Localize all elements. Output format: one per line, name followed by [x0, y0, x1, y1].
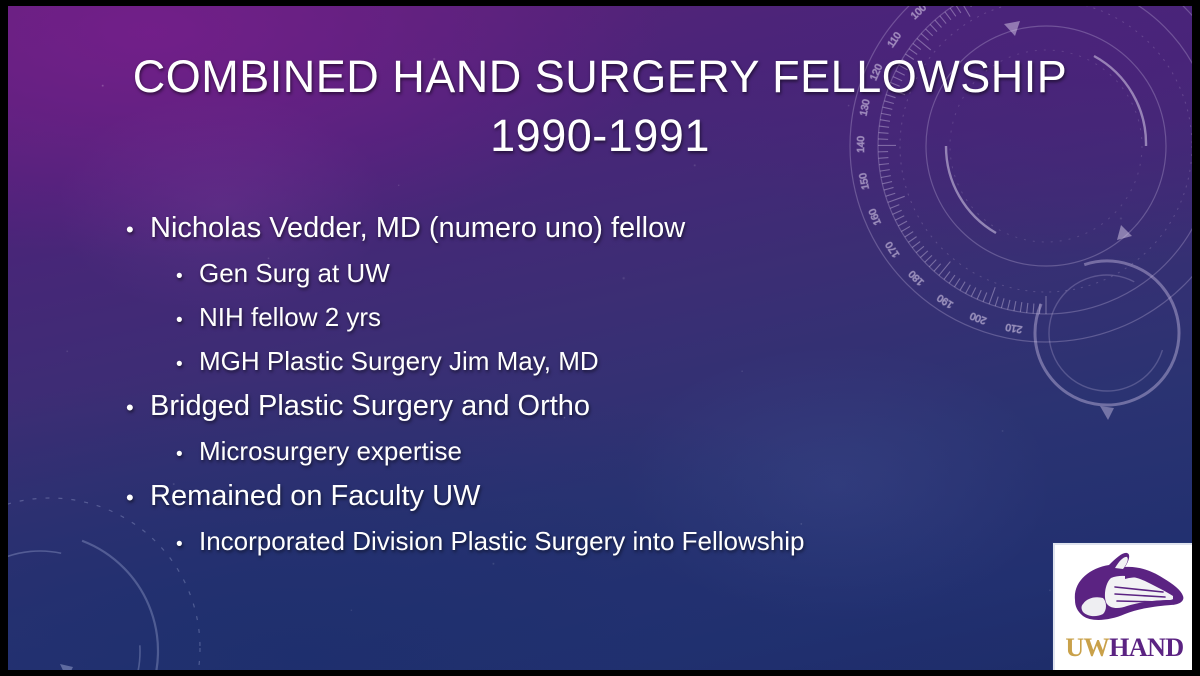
bullet-text: Microsurgery expertise — [199, 436, 462, 467]
bullet-point-icon: • — [126, 219, 150, 241]
bullet-text: NIH fellow 2 yrs — [199, 302, 381, 333]
bullet-text: Gen Surg at UW — [199, 258, 390, 289]
bullet-item-level-2: •NIH fellow 2 yrs — [126, 302, 1152, 333]
bullet-text: Bridged Plastic Surgery and Ortho — [150, 390, 590, 423]
bullet-item-level-2: •Incorporated Division Plastic Surgery i… — [126, 526, 1152, 557]
bullet-item-level-2: •Microsurgery expertise — [126, 436, 1152, 467]
logo-word-uw: UW — [1065, 633, 1109, 662]
bullet-point-icon: • — [176, 535, 199, 554]
logo-wordmark: UWHAND — [1065, 635, 1183, 661]
husky-hand-logo-icon — [1063, 548, 1187, 634]
bullet-item-level-1: •Remained on Faculty UW — [126, 480, 1152, 513]
bullet-item-level-2: •Gen Surg at UW — [126, 258, 1152, 289]
bullet-item-level-1: •Bridged Plastic Surgery and Ortho — [126, 390, 1152, 423]
decor-tick-label: 110 — [886, 30, 904, 50]
bullet-point-icon: • — [176, 355, 199, 374]
bullet-list: •Nicholas Vedder, MD (numero uno) fellow… — [126, 212, 1152, 570]
presentation-slide: 2102001901801701601501401301201101009080 — [8, 6, 1192, 670]
title-line-1: COMBINED HAND SURGERY FELLOWSHIP — [8, 48, 1192, 107]
bullet-item-level-2: •MGH Plastic Surgery Jim May, MD — [126, 346, 1152, 377]
bullet-point-icon: • — [126, 397, 150, 419]
bullet-text: Nicholas Vedder, MD (numero uno) fellow — [150, 212, 685, 245]
bullet-point-icon: • — [176, 267, 199, 286]
uw-hand-logo: UWHAND — [1053, 543, 1192, 670]
page-title: COMBINED HAND SURGERY FELLOWSHIP 1990-19… — [8, 48, 1192, 165]
slide-frame: 2102001901801701601501401301201101009080 — [0, 0, 1200, 676]
bullet-point-icon: • — [176, 445, 199, 464]
decor-tick-label: 100 — [909, 6, 929, 22]
bullet-point-icon: • — [176, 311, 199, 330]
bullet-text: Remained on Faculty UW — [150, 480, 480, 513]
title-line-2: 1990-1991 — [8, 107, 1192, 166]
logo-word-hand: HAND — [1109, 633, 1184, 662]
bullet-item-level-1: •Nicholas Vedder, MD (numero uno) fellow — [126, 212, 1152, 245]
bullet-text: Incorporated Division Plastic Surgery in… — [199, 526, 805, 557]
bullet-point-icon: • — [126, 487, 150, 509]
decor-tick-label: 150 — [858, 172, 872, 191]
bullet-text: MGH Plastic Surgery Jim May, MD — [199, 346, 599, 377]
